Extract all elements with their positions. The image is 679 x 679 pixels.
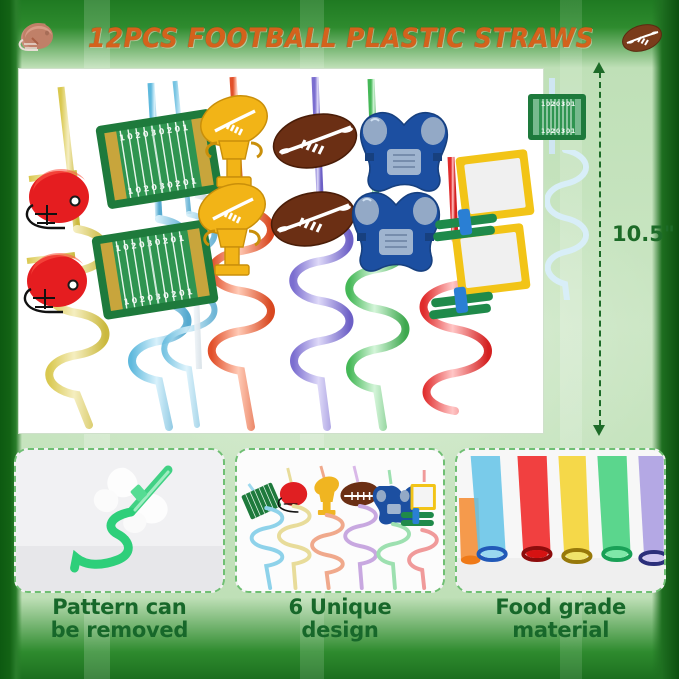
caption-line-2: design [301,618,378,642]
svg-text:1: 1 [571,101,575,108]
dimension-dashed-line [599,72,601,426]
football-icon [621,23,663,53]
svg-text:0: 0 [566,128,570,135]
caption-line-1: Food grade [495,595,626,619]
dimension-label: 10.5" [612,222,675,246]
topper-helmet-1 [27,169,89,228]
panel-unique-design [235,448,446,593]
product-infographic: 12PCS FOOTBALL PLASTIC STRAWS [0,0,679,679]
caption-line-1: 6 Unique [289,595,392,619]
dimension-arrow [590,62,610,436]
caption-line-2: material [512,618,609,642]
svg-text:0: 0 [546,128,550,135]
topper-shoulder-pads-1 [361,113,448,191]
panel-pattern-removable [14,448,225,593]
arrow-head-down [593,425,605,436]
topper-field-2: 102 030 201 102 030 201 [91,219,219,320]
svg-text:1: 1 [571,128,575,135]
svg-text:0: 0 [566,101,570,108]
svg-text:2: 2 [551,128,555,135]
caption-line-1: Pattern can [52,595,186,619]
svg-text:0: 0 [546,101,550,108]
feature-captions: Pattern can be removed 6 Unique design F… [14,596,666,658]
straws-illustration: 102 030 201 102 030 201 102 [19,69,543,433]
caption-food-grade: Food grade material [455,596,666,658]
topper-football-1 [269,107,362,175]
caption-unique-design: 6 Unique design [235,596,446,658]
svg-text:3: 3 [561,128,565,135]
feature-panels [14,448,666,593]
panel-2-image [237,450,444,591]
football-helmet-icon [16,20,60,56]
caption-pattern-removable: Pattern can be removed [14,596,225,658]
svg-text:2: 2 [551,101,555,108]
svg-text:1: 1 [541,101,545,108]
svg-text:1: 1 [541,128,545,135]
svg-text:3: 3 [561,101,565,108]
side-field-topper: 1020 301 1020 301 [516,76,592,156]
main-product-image: 102 030 201 102 030 201 102 [18,68,544,434]
caption-line-2: be removed [51,618,188,642]
topper-helmet-2 [25,253,87,312]
panel-3-image [457,450,664,591]
panel-food-grade [455,448,666,593]
header: 12PCS FOOTBALL PLASTIC STRAWS [0,16,679,60]
svg-text:0: 0 [556,128,560,135]
page-title: 12PCS FOOTBALL PLASTIC STRAWS [88,23,594,54]
panel-1-image [16,450,223,591]
topper-shoulder-pads-2 [353,193,440,271]
svg-text:0: 0 [556,101,560,108]
